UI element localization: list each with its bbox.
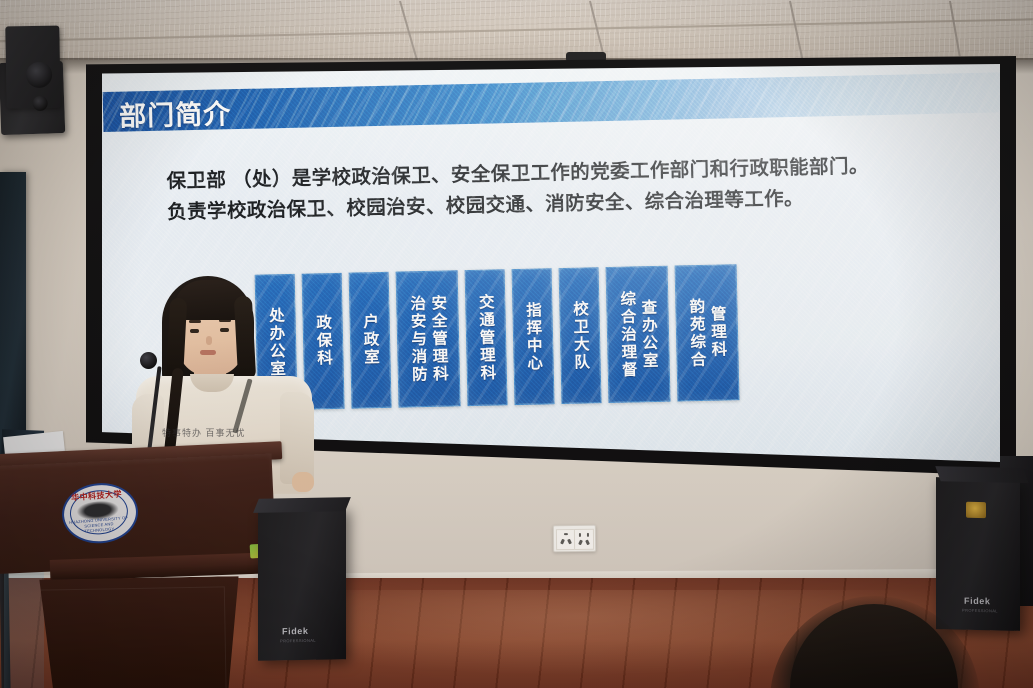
floor-speaker-left-subtext: PROFESSIONAL: [280, 638, 316, 644]
wall-power-outlet[interactable]: [553, 525, 596, 552]
presenter-hand: [292, 472, 314, 492]
podium-body-panel: [39, 586, 227, 688]
podium: 华中科技大学 HUAZHONG UNIVERSITY OF SCIENCE AN…: [0, 448, 288, 688]
microphone-icon: [140, 352, 157, 369]
university-emblem: 华中科技大学 HUAZHONG UNIVERSITY OF SCIENCE AN…: [60, 480, 136, 542]
presenter-nose: [206, 336, 212, 345]
speaker-badge-icon: [966, 502, 986, 518]
floor-speaker-left-brand: Fidek: [282, 626, 309, 636]
floor-speaker-left: Fidek PROFESSIONAL: [258, 507, 346, 661]
floor-speaker-right-brand: Fidek: [964, 596, 991, 607]
speaker-woofer-icon: [26, 62, 52, 88]
floor-speaker-right-subtext: PROFESSIONAL: [962, 608, 998, 614]
wall-speaker-icon: [5, 26, 60, 109]
left-wall-panel: [0, 172, 26, 472]
outlet-socket-right: [574, 529, 594, 550]
podium-body: [27, 576, 242, 688]
floor-speaker-right-top: [935, 466, 1028, 483]
presenter-mouth: [200, 350, 216, 355]
floor-speaker-right: Fidek PROFESSIONAL: [936, 477, 1020, 631]
presenter-shirt-print: 特事特办 百事无忧: [162, 426, 256, 440]
floor-speaker-left-top: [253, 497, 351, 513]
presenter-hair-right: [234, 296, 256, 381]
conference-room-scene: 部门简介 保卫部 （处）是学校政治保卫、安全保卫工作的党委工作部门和行政职能部门…: [0, 0, 1033, 688]
